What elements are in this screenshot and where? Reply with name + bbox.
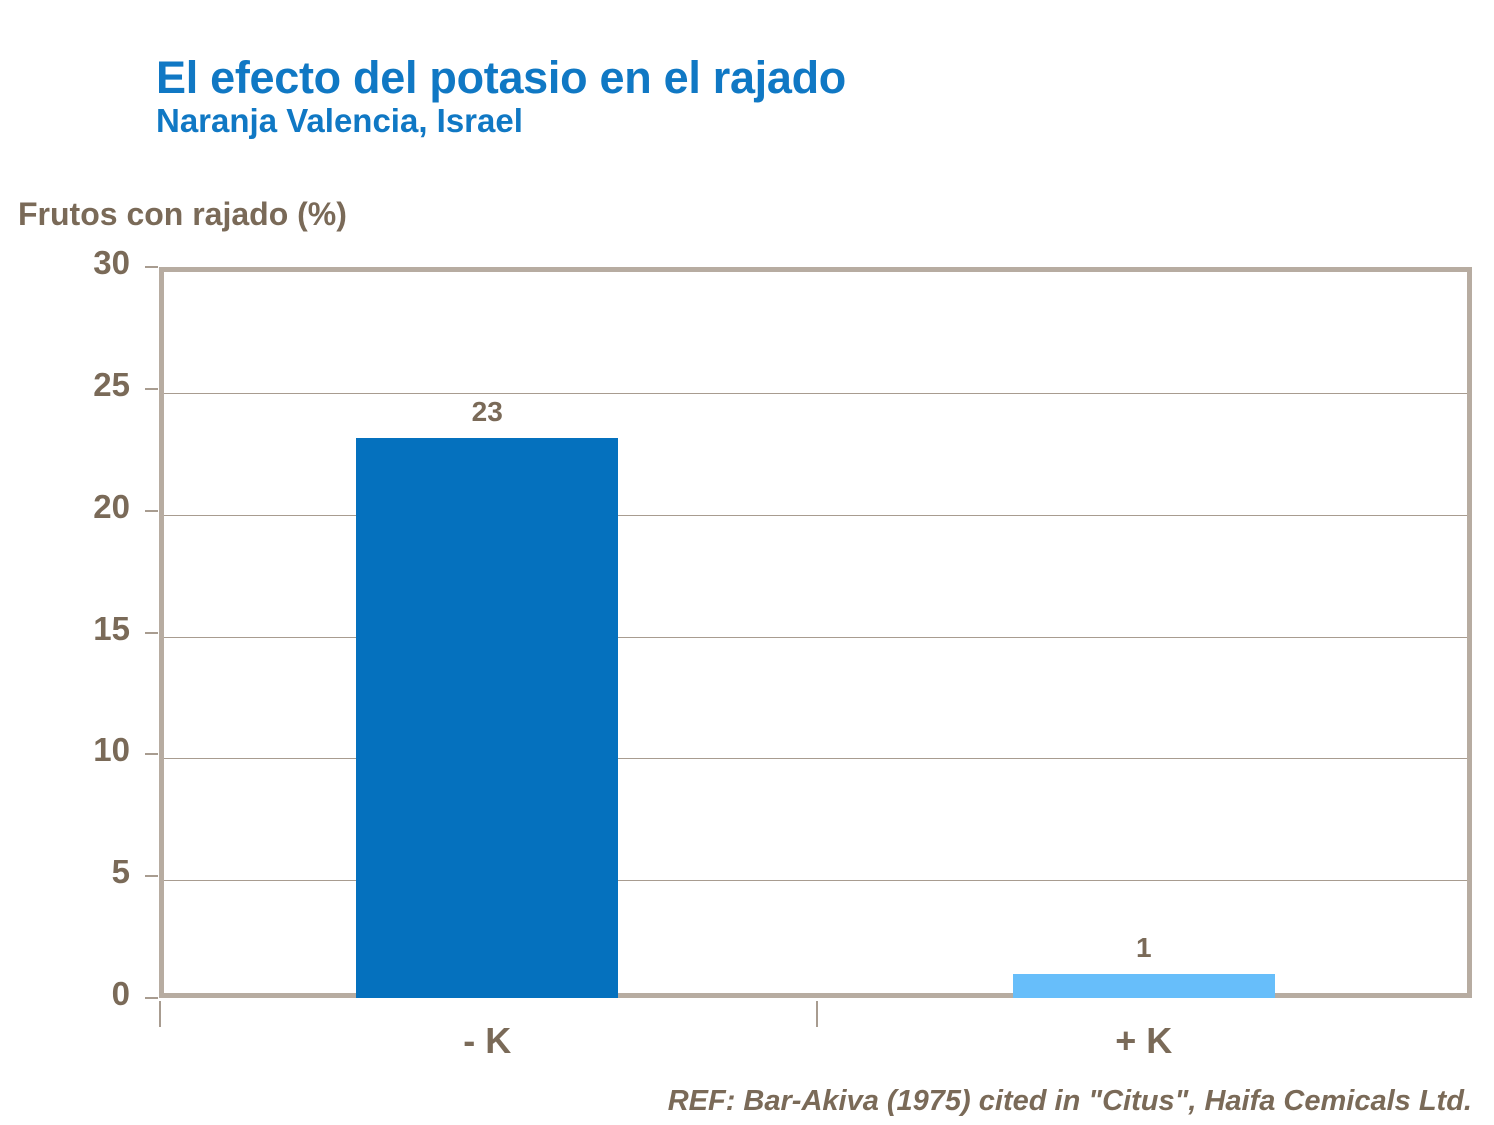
y-axis-tick-mark [145, 875, 158, 877]
y-axis-tick-mark [145, 753, 158, 755]
y-axis-tick-mark [145, 388, 158, 390]
x-axis-tick-mark [816, 1001, 818, 1027]
y-axis-tick-label: 15 [20, 610, 130, 648]
bar-value-label: 1 [1054, 932, 1234, 964]
x-axis-category-label: - K [327, 1020, 647, 1062]
bar-2[interactable] [1013, 974, 1275, 998]
y-axis-title: Frutos con rajado (%) [18, 196, 347, 233]
footnote-reference: REF: Bar-Akiva (1975) cited in "Citus", … [0, 1085, 1472, 1118]
y-axis-tick-label: 20 [20, 488, 130, 526]
y-axis-tick-label: 25 [20, 366, 130, 404]
slide-canvas: El efecto del potasio en el rajado Naran… [0, 0, 1494, 1125]
y-axis-tick-label: 0 [20, 975, 130, 1013]
page-subtitle: Naranja Valencia, Israel [156, 103, 1356, 139]
bar-1[interactable] [356, 438, 618, 998]
x-axis-category-label: + K [984, 1020, 1304, 1062]
x-axis-tick-mark [159, 1001, 161, 1027]
gridline [164, 393, 1467, 394]
title-block: El efecto del potasio en el rajado Naran… [156, 54, 1356, 140]
y-axis-tick-mark [145, 632, 158, 634]
y-axis-tick-label: 5 [20, 853, 130, 891]
page-title: El efecto del potasio en el rajado [156, 54, 1356, 101]
y-axis-tick-mark [145, 510, 158, 512]
bar-value-label: 23 [397, 396, 577, 428]
y-axis-tick-label: 10 [20, 731, 130, 769]
y-axis-tick-mark [145, 997, 158, 999]
y-axis-tick-mark [145, 266, 158, 268]
y-axis-tick-label: 30 [20, 244, 130, 282]
